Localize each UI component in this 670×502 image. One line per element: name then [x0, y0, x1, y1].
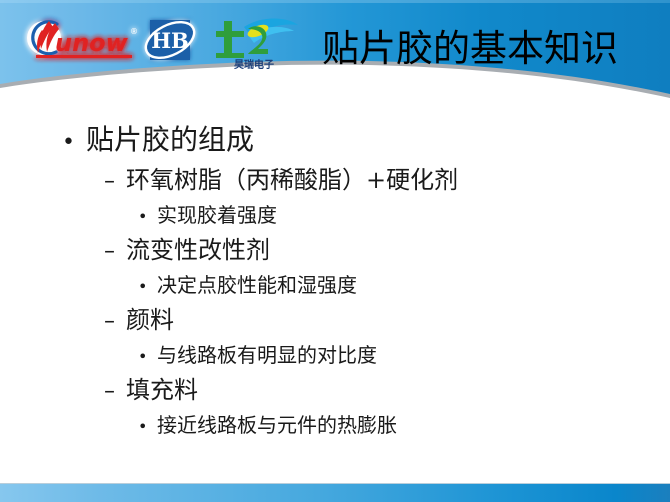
bullet-dot-icon: • — [138, 201, 157, 233]
bullet-dot-icon: • — [138, 271, 157, 303]
outline-text: 决定点胶性能和湿强度 — [157, 269, 357, 301]
registered-trademark-icon: ® — [130, 27, 138, 36]
outline-text: 环氧树脂（丙稀酸脂）+硬化剂 — [126, 163, 458, 198]
bullet-dash-icon: – — [104, 164, 126, 199]
outline-text: 流变性改性剂 — [126, 233, 270, 268]
hb-logo: HB — [140, 15, 202, 67]
bullet-dot-icon: • — [138, 341, 157, 373]
bullet-dash-icon: – — [104, 374, 126, 409]
outline-text: 贴片胶的组成 — [86, 120, 254, 160]
haorui-logo: 昊瑞电子 — [208, 11, 300, 71]
slide-title: 贴片胶的基本知识 — [322, 24, 662, 76]
bullet-dot-icon: • — [138, 411, 157, 443]
presentation-slide: unow ® HB — [0, 0, 670, 502]
haorui-company-name: 昊瑞电子 — [234, 58, 274, 71]
banner-top-stripe — [0, 0, 670, 3]
bullet-dash-icon: – — [104, 304, 126, 339]
outline-item-level2: – 环氧树脂（丙稀酸脂）+硬化剂 — [104, 163, 670, 199]
outline-item-level2: – 颜料 — [104, 303, 670, 339]
outline-text: 实现胶着强度 — [157, 199, 277, 231]
outline-text: 颜料 — [126, 303, 174, 338]
bullet-dash-icon: – — [104, 234, 126, 269]
slide-body: • 贴片胶的组成 – 环氧树脂（丙稀酸脂）+硬化剂 • 实现胶着强度 – 流变性… — [0, 120, 670, 470]
outline-item-level2: – 流变性改性剂 — [104, 233, 670, 269]
outline-item-level3: • 与线路板有明显的对比度 — [138, 339, 670, 373]
funow-logo: unow ® — [22, 14, 142, 66]
funow-wordmark: unow — [55, 29, 129, 57]
bullet-dot-icon: • — [62, 123, 86, 163]
outline-item-level3: • 接近线路板与元件的热膨胀 — [138, 409, 670, 443]
outline-item-level3: • 决定点胶性能和湿强度 — [138, 269, 670, 303]
outline-item-level3: • 实现胶着强度 — [138, 199, 670, 233]
hb-wordmark: HB — [151, 28, 189, 53]
outline-item-level2: – 填充料 — [104, 373, 670, 409]
footer-accent-bar — [0, 483, 670, 502]
outline-text: 填充料 — [126, 373, 198, 408]
outline-text: 接近线路板与元件的热膨胀 — [157, 409, 397, 441]
outline-item-level1: • 贴片胶的组成 — [62, 120, 670, 163]
outline-text: 与线路板有明显的对比度 — [157, 339, 377, 371]
